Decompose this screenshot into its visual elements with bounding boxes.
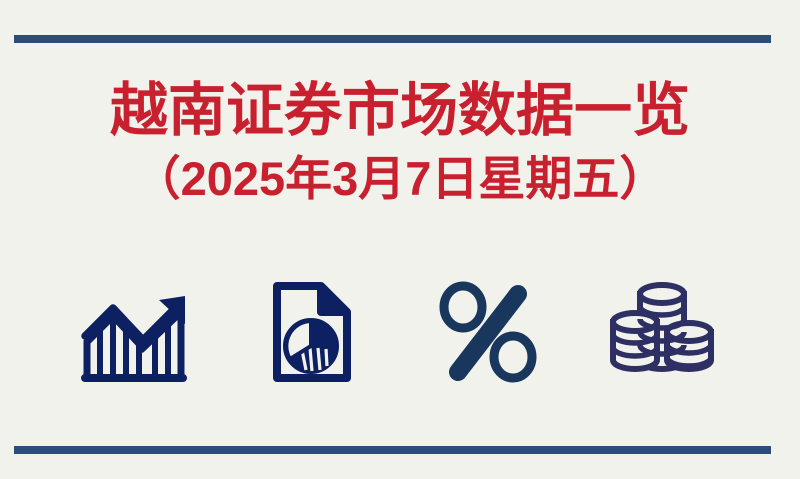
percent-icon <box>429 276 547 388</box>
growth-chart-icon <box>77 276 195 388</box>
document-pie-chart-icon <box>253 276 371 388</box>
icon-row <box>0 272 800 392</box>
bottom-divider <box>14 446 771 454</box>
page-subtitle-date: （2025年3月7日星期五） <box>0 148 800 210</box>
infographic-card: 越南证券市场数据一览 （2025年3月7日星期五） <box>0 0 800 479</box>
page-title: 越南证券市场数据一览 <box>0 74 800 148</box>
coin-stacks-icon <box>605 276 723 388</box>
headline-block: 越南证券市场数据一览 （2025年3月7日星期五） <box>0 74 800 210</box>
top-divider <box>14 35 771 43</box>
